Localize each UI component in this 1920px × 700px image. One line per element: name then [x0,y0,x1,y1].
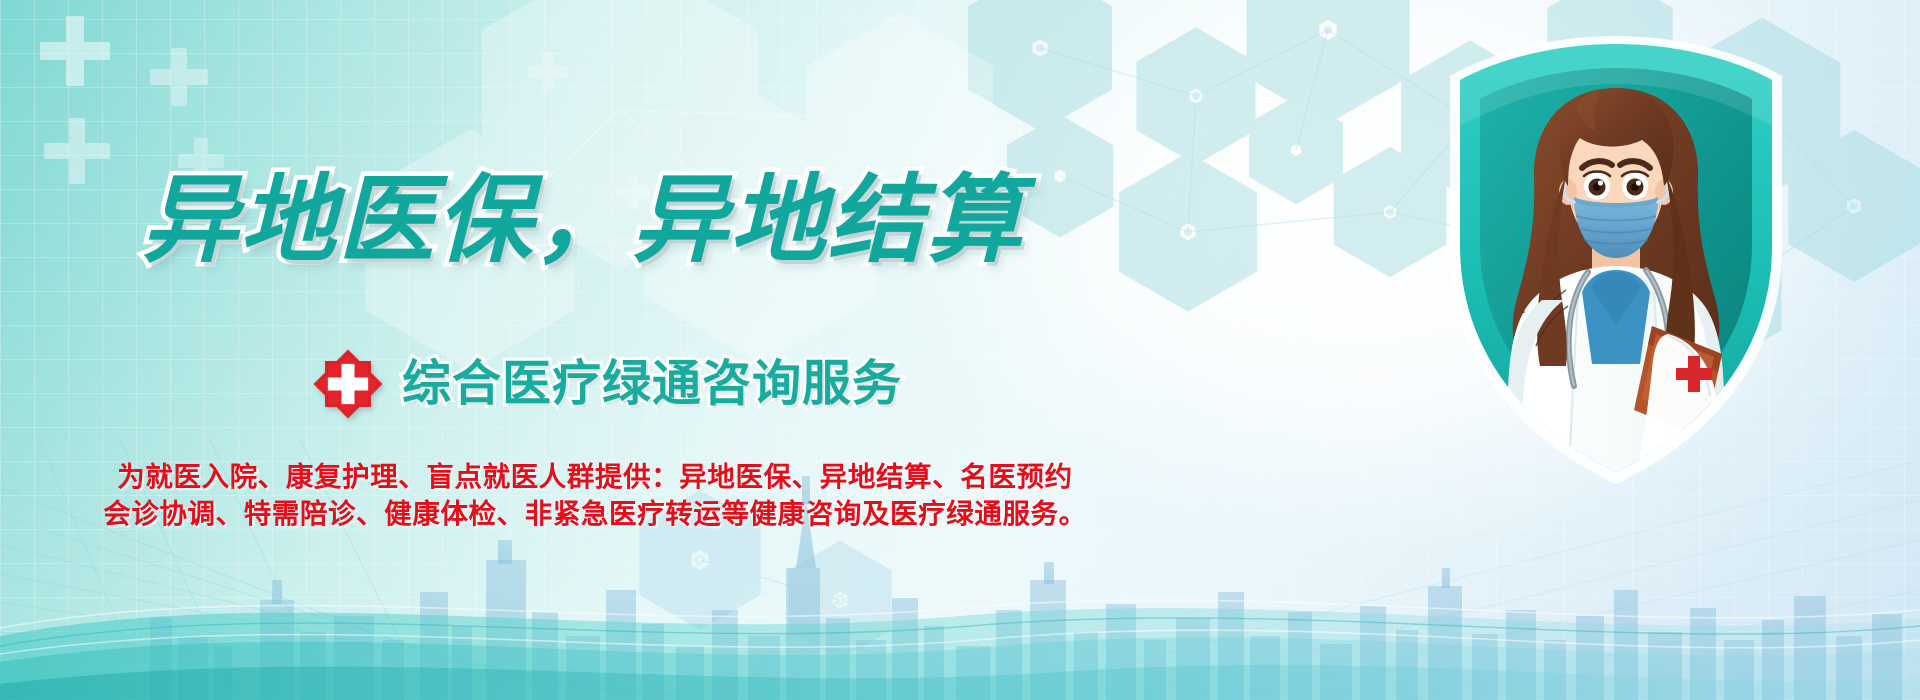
banner-subtitle: 综合医疗绿通咨询服务 [402,355,902,413]
hexagon-network-decoration [0,0,1920,700]
surgical-mask [1564,184,1668,258]
shield-outer [1460,44,1772,472]
grid-texture [0,0,1920,700]
description-line-1: 为就医入院、康复护理、盲点就医人群提供：异地医保、异地结算、名医预约 [0,458,1190,495]
medical-banner: 异地医保，异地结算 综合医疗绿通咨询服务 为就医入院、康复护理、盲点就医人群提供… [0,0,1920,700]
red-cross-badge-icon [312,348,384,420]
subtitle-row: 综合医疗绿通咨询服务 [312,352,902,416]
clipboard [1634,326,1722,438]
shield-inner [1480,68,1752,444]
banner-headline: 异地医保，异地结算 [142,168,1092,273]
face [1568,120,1664,248]
headline-container: 异地医保，异地结算 [142,168,1092,273]
doctor-figure [1508,88,1724,486]
plus-cross-icon [40,16,110,86]
description-block: 为就医入院、康复护理、盲点就医人群提供：异地医保、异地结算、名医预约 会诊协调、… [0,458,1190,532]
scrubs [1582,270,1650,364]
plus-cross-icon [150,48,208,106]
shield-doctor-illustration [1416,34,1816,486]
stethoscope [1569,270,1669,390]
eyes [1584,172,1648,201]
description-line-2: 会诊协调、特需陪诊、健康体检、非紧急医疗转运等健康咨询及医疗绿通服务。 [0,495,1190,532]
coat-pocket-cross [1666,352,1712,392]
plus-cross-icon [528,52,568,92]
white-coat [1508,266,1724,486]
hair-back [1513,88,1720,370]
hair-front [1559,88,1673,186]
plus-cross-icon [44,118,110,184]
